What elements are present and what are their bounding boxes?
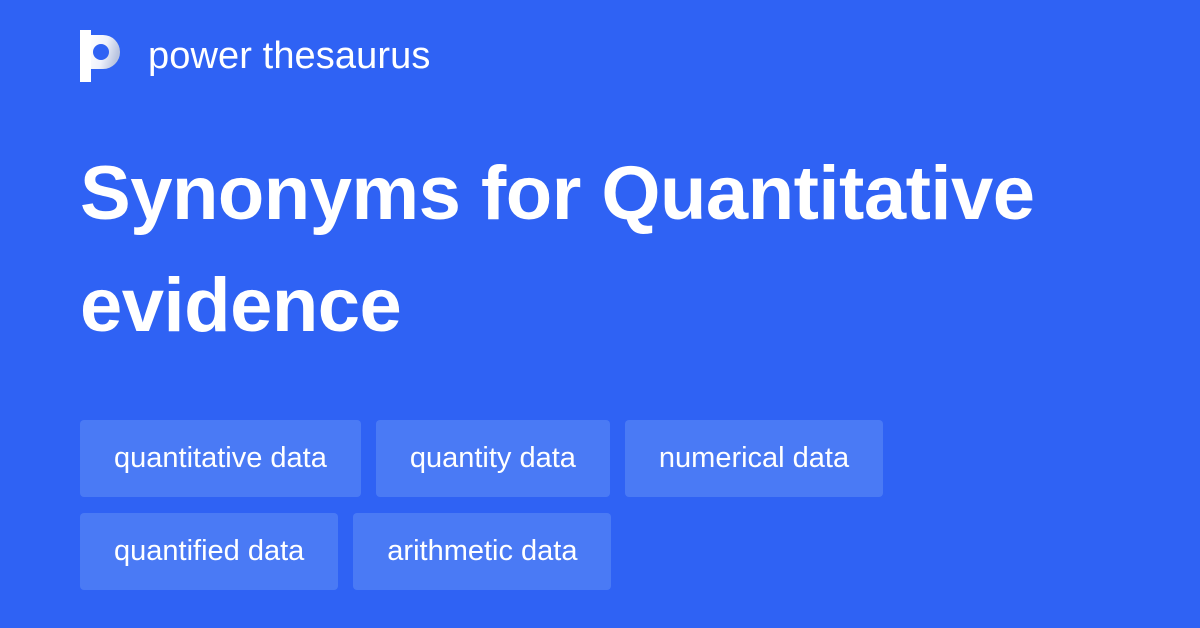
brand-header[interactable]: power thesaurus: [80, 28, 430, 84]
synonym-chip[interactable]: quantified data: [80, 513, 338, 590]
page-title: Synonyms for Quantitative evidence: [80, 138, 1140, 363]
brand-name: power thesaurus: [148, 37, 430, 75]
power-thesaurus-logo-icon: [80, 30, 126, 82]
page-root: power thesaurus Synonyms for Quantitativ…: [0, 0, 1200, 628]
synonym-chip-list: quantitative data quantity data numerica…: [80, 420, 1140, 590]
synonym-chip[interactable]: quantitative data: [80, 420, 361, 497]
synonym-chip[interactable]: quantity data: [376, 420, 610, 497]
synonym-chip[interactable]: arithmetic data: [353, 513, 611, 590]
synonym-chip[interactable]: numerical data: [625, 420, 883, 497]
